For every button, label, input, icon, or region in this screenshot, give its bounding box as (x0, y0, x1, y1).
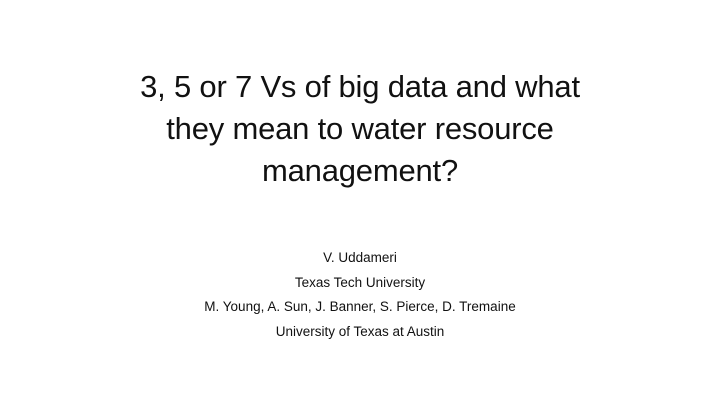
presenter-name: V. Uddameri (36, 246, 684, 271)
title-line-1: 3, 5 or 7 Vs of big data and what (36, 66, 684, 108)
coauthor-names: M. Young, A. Sun, J. Banner, S. Pierce, … (36, 295, 684, 320)
presenter-affiliation: Texas Tech University (36, 271, 684, 296)
title-line-3: management? (36, 150, 684, 192)
presentation-slide: 3, 5 or 7 Vs of big data and what they m… (0, 0, 720, 405)
title-line-2: they mean to water resource (36, 108, 684, 150)
coauthor-affiliation: University of Texas at Austin (36, 320, 684, 345)
slide-title: 3, 5 or 7 Vs of big data and what they m… (36, 66, 684, 192)
slide-subtitle: V. Uddameri Texas Tech University M. You… (36, 246, 684, 344)
